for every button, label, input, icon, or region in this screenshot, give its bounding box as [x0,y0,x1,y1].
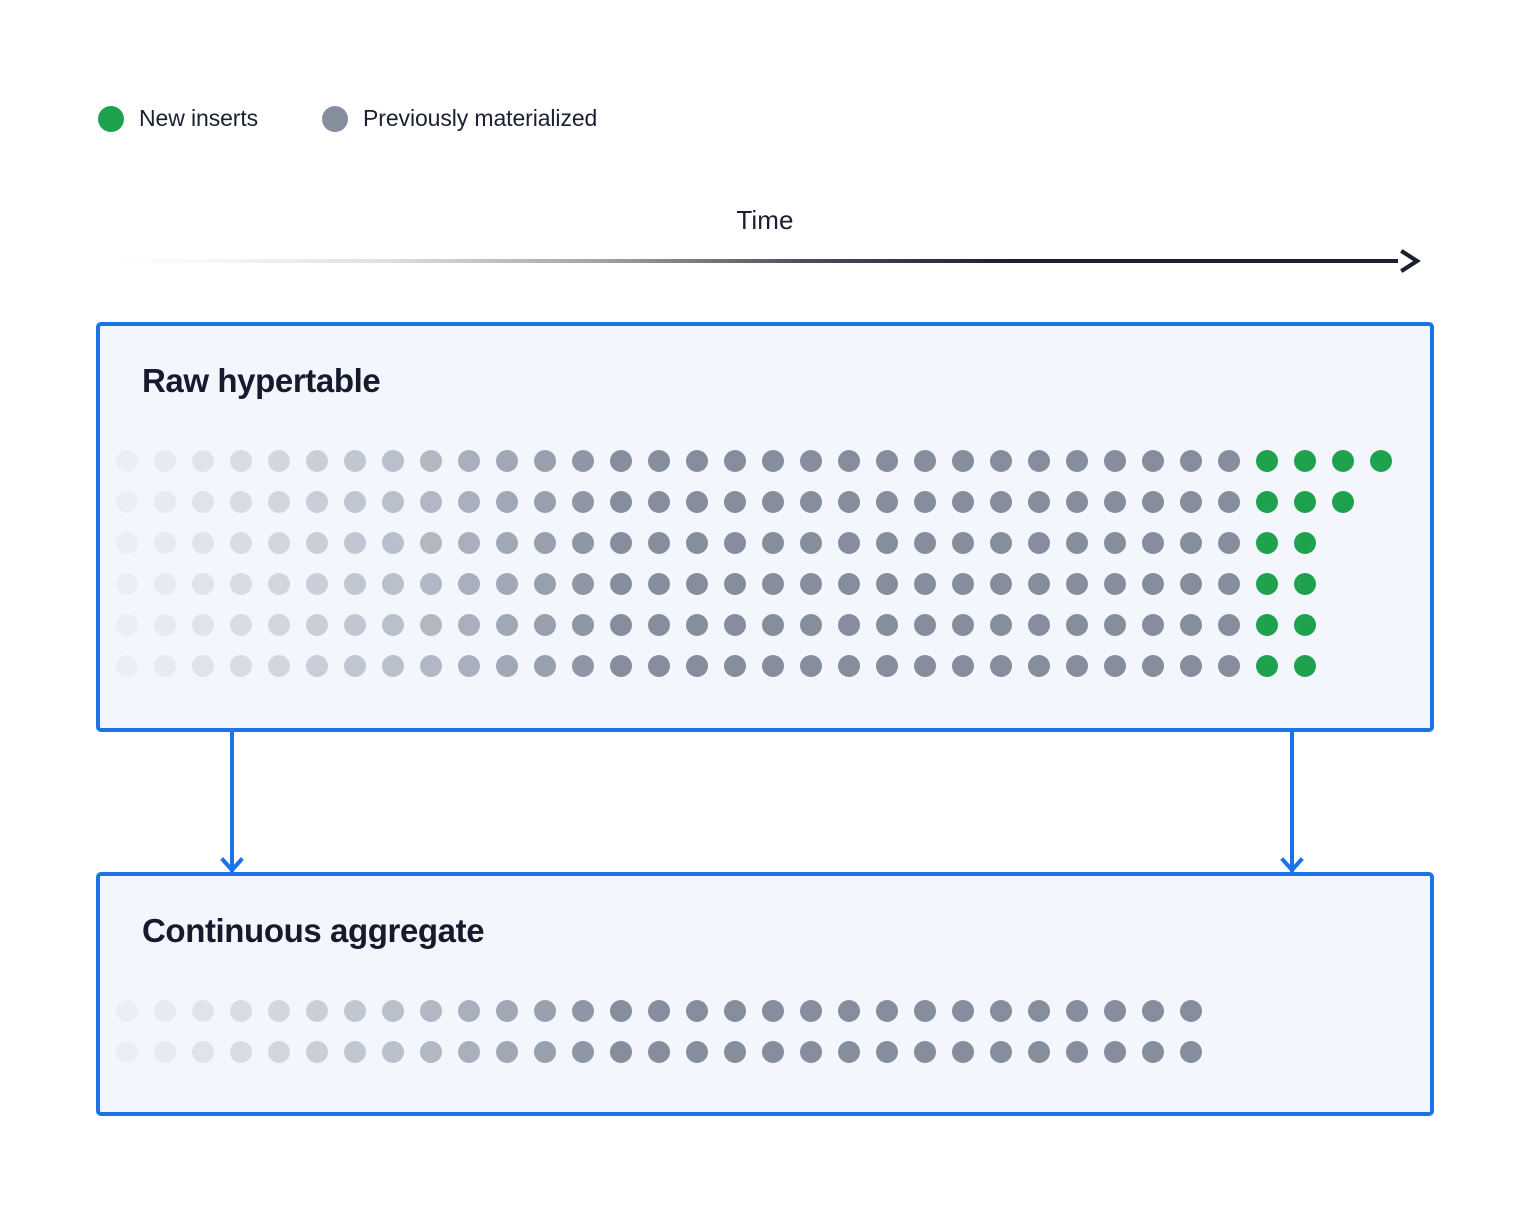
legend-item-new-inserts: New inserts [98,105,258,132]
continuous-aggregate-dot-grid [100,876,1438,1120]
time-axis-line [98,259,1398,263]
legend-dot-icon [98,106,124,132]
arrow-down-icon [219,851,245,873]
time-axis-label: Time [98,205,1432,236]
raw-hypertable-panel: Raw hypertable [96,322,1434,732]
legend: New inserts Previously materialized [98,105,597,132]
arrow-down-icon [1279,851,1305,873]
legend-dot-icon [322,106,348,132]
connector-right [1279,732,1305,872]
time-axis: Time [98,205,1432,275]
legend-label: Previously materialized [363,105,597,132]
legend-item-previously-materialized: Previously materialized [322,105,597,132]
raw-hypertable-dot-grid [100,326,1438,736]
continuous-aggregate-panel: Continuous aggregate [96,872,1434,1116]
arrow-right-icon [1392,246,1422,276]
connector-left [219,732,245,872]
legend-label: New inserts [139,105,258,132]
